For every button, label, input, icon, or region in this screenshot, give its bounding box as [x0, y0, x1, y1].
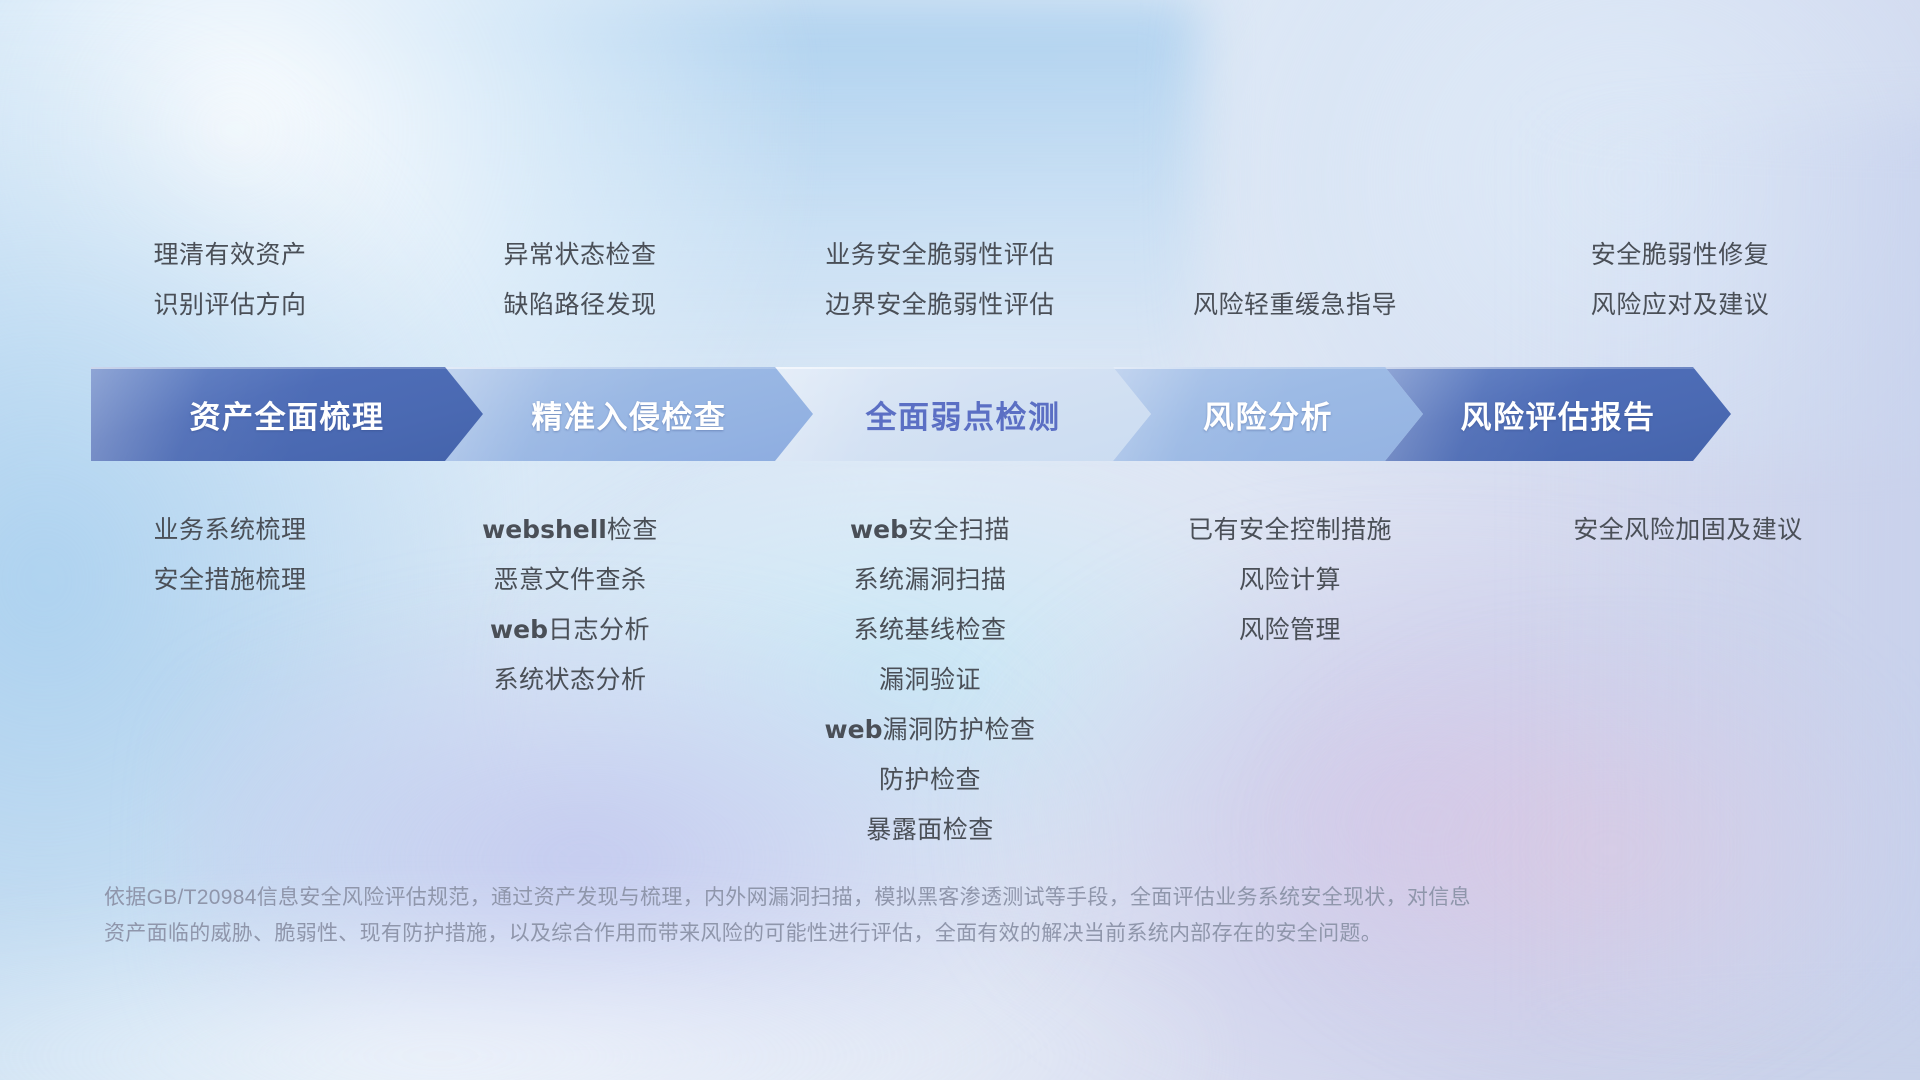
process-stage-label: 风险评估报告 — [1461, 392, 1656, 437]
stage-detail-list-assessment-report: 安全风险加固及建议 — [1388, 505, 1920, 555]
stage-note-line: 暴露面检查 — [630, 805, 1230, 855]
stage-note-line: 风险计算 — [990, 555, 1590, 605]
stage-note-latin-token: web — [490, 615, 548, 644]
stage-note-line: web漏洞防护检查 — [630, 705, 1230, 755]
stage-top-highlight — [1113, 367, 1423, 369]
process-stage-label: 资产全面梳理 — [190, 392, 385, 437]
process-stage-label: 精准入侵检查 — [532, 392, 727, 437]
stage-note-line: 安全风险加固及建议 — [1388, 505, 1920, 555]
stage-note-line: 安全脆弱性修复 — [1380, 230, 1920, 280]
footer-line-2: 资产面临的威胁、脆弱性、现有防护措施，以及综合作用而带来风险的可能性进行评估，全… — [104, 916, 1724, 952]
stage-top-highlight — [91, 367, 483, 369]
stage-note-latin-token: webshell — [482, 515, 607, 544]
process-flow-bar: 资产全面梳理精准入侵检查全面弱点检测风险分析风险评估报告 — [91, 367, 1845, 461]
process-stage-intrusion-check[interactable]: 精准入侵检查 — [445, 367, 813, 461]
stage-note-line: 风险应对及建议 — [1380, 280, 1920, 330]
stage-top-highlight — [445, 367, 813, 369]
stage-note-line: 业务安全脆弱性评估 — [640, 230, 1240, 280]
footer-line-1: 依据GB/T20984信息安全风险评估规范，通过资产发现与梳理，内外网漏洞扫描，… — [104, 880, 1724, 916]
stage-top-highlight — [1385, 367, 1731, 369]
stage-note-latin-token: web — [825, 715, 883, 744]
slide-content: 理清有效资产识别评估方向 异常状态检查缺陷路径发现 业务安全脆弱性评估边界安全脆… — [0, 0, 1920, 1080]
process-stage-risk-analysis[interactable]: 风险分析 — [1113, 367, 1423, 461]
stage-note-line: 防护检查 — [630, 755, 1230, 805]
process-stage-asset-inventory[interactable]: 资产全面梳理 — [91, 367, 483, 461]
stage-top-highlight — [775, 367, 1151, 369]
process-stage-label: 风险分析 — [1203, 392, 1333, 437]
process-stage-assessment-report[interactable]: 风险评估报告 — [1385, 367, 1731, 461]
stage-top-notes-assessment-report: 安全脆弱性修复风险应对及建议 — [1380, 230, 1920, 330]
stage-note-line: 风险管理 — [990, 605, 1590, 655]
footer-description: 依据GB/T20984信息安全风险评估规范，通过资产发现与梳理，内外网漏洞扫描，… — [104, 880, 1724, 952]
stage-note-line: 漏洞验证 — [630, 655, 1230, 705]
stage-note-latin-token: web — [850, 515, 908, 544]
process-stage-label: 全面弱点检测 — [866, 392, 1061, 437]
process-stage-weakness-detection[interactable]: 全面弱点检测 — [775, 367, 1151, 461]
